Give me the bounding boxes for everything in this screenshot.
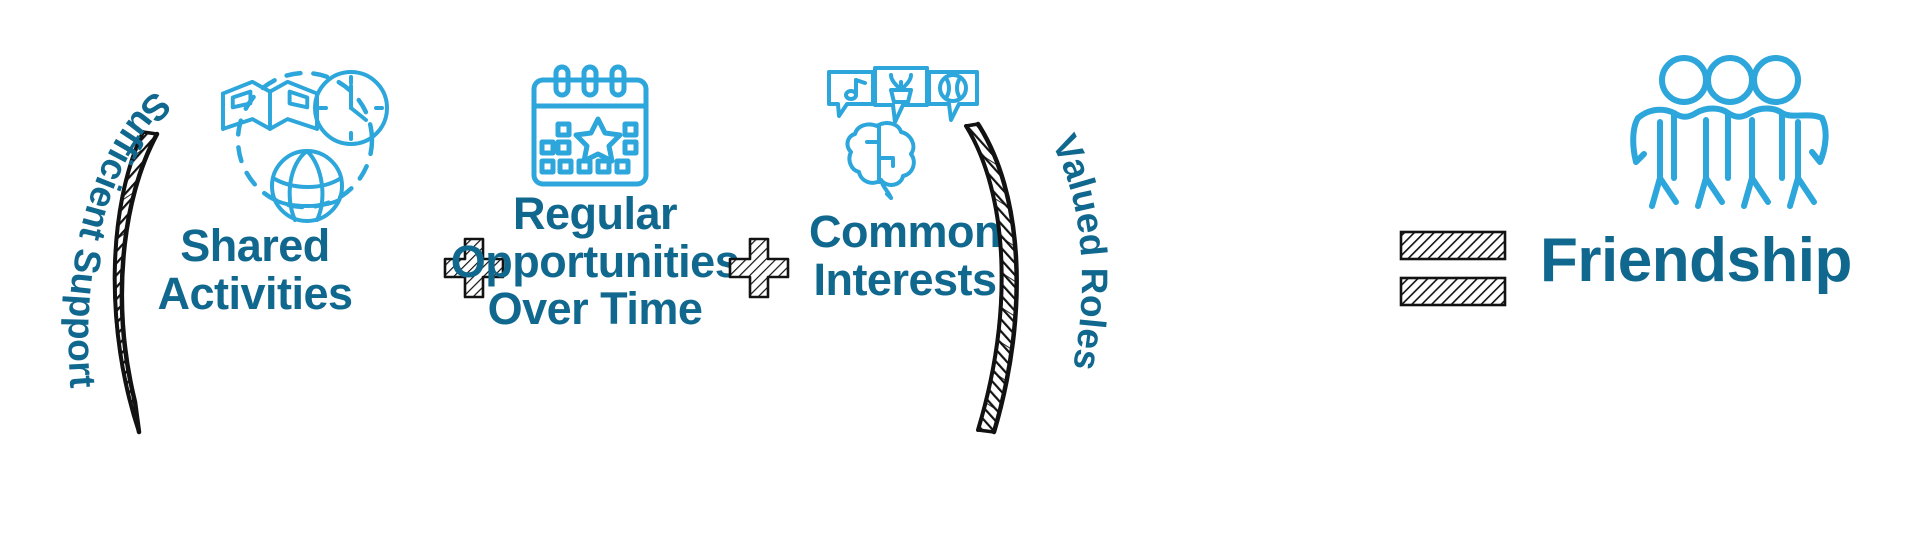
book-clock-basketball-icon — [205, 58, 405, 223]
three-people-icon — [1630, 50, 1830, 215]
music-note-speech-bubble-icon — [829, 72, 873, 116]
term-label-shared-activities: Shared Activities — [130, 222, 380, 317]
result-label-friendship: Friendship — [1540, 228, 1920, 294]
book-icon — [223, 82, 317, 129]
equals-sign — [1398, 228, 1510, 310]
svg-text:Valued Roles: Valued Roles — [1044, 128, 1115, 374]
calendar-star-icon — [520, 62, 660, 192]
right-bracket-label: Valued Roles — [1020, 130, 1170, 430]
baseball-speech-bubble-icon — [929, 72, 977, 120]
plant-speech-bubble-icon — [875, 68, 927, 122]
right-bracket-label-text: Valued Roles — [1044, 128, 1115, 374]
infographic-canvas: Sufficient Support — [0, 0, 1920, 555]
term-label-regular-opportunities: Regular Opportunities Over Time — [440, 190, 750, 333]
clock-icon — [315, 72, 387, 144]
brain-icon — [848, 123, 914, 198]
basketball-icon — [272, 151, 342, 221]
